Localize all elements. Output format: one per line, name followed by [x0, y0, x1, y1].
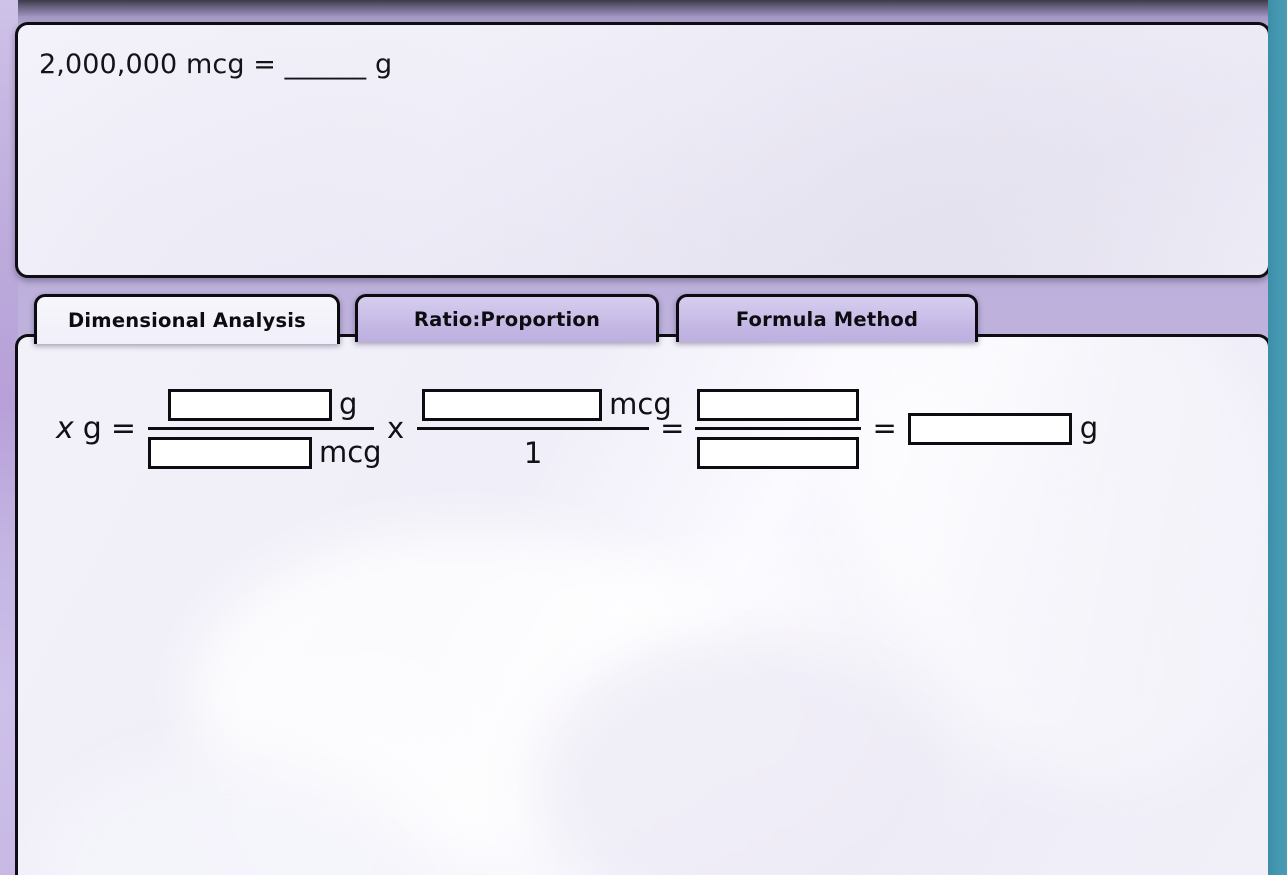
unknown-variable: x: [56, 411, 74, 446]
equals-sign-2: =: [872, 414, 896, 443]
fraction2-numerator-input[interactable]: [422, 389, 602, 421]
tab-label: Ratio:Proportion: [414, 308, 600, 331]
question-panel: 2,000,000 mcg = ______ g: [15, 22, 1271, 278]
lead-equals-sign: =: [111, 411, 136, 446]
fraction1-numerator-input[interactable]: [168, 389, 332, 421]
lead-unit-label: g: [83, 411, 102, 446]
fraction3-numerator-input[interactable]: [697, 389, 859, 421]
final-answer-input[interactable]: [908, 413, 1072, 445]
fraction2-numerator-row: mcg: [417, 383, 649, 426]
tab-label: Dimensional Analysis: [68, 309, 306, 332]
fraction1-denominator-unit: mcg: [319, 438, 382, 467]
tab-ratio-proportion[interactable]: Ratio:Proportion: [355, 294, 659, 342]
tab-dimensional-analysis[interactable]: Dimensional Analysis: [34, 294, 340, 344]
dimensional-analysis-equation: x g = g mcg x mc: [56, 383, 1098, 474]
tab-formula-method[interactable]: Formula Method: [676, 294, 978, 342]
fraction-product: [695, 383, 861, 474]
multiplication-sign: x: [387, 414, 404, 443]
fraction1-denominator-input[interactable]: [148, 437, 312, 469]
fraction1-numerator-unit: g: [339, 390, 357, 419]
fraction1-numerator-row: g: [148, 383, 374, 426]
fraction3-numerator-row: [695, 383, 861, 426]
fraction-given-quantity: mcg 1: [417, 383, 649, 474]
background-blur-shape: [538, 637, 958, 875]
right-teal-rail: [1268, 0, 1287, 875]
question-text: 2,000,000 mcg = ______ g: [39, 49, 392, 80]
background-blur-shape: [188, 527, 748, 857]
top-band-decoration: [0, 0, 1287, 16]
final-answer-group: g: [908, 413, 1098, 445]
fraction1-denominator-row: mcg: [148, 431, 374, 474]
fraction2-denominator-label: 1: [417, 431, 649, 474]
equation-lead: x g =: [56, 411, 136, 446]
fraction3-bar: [695, 427, 861, 430]
work-area-panel: x g = g mcg x mc: [15, 334, 1271, 875]
method-tab-bar: Dimensional Analysis Ratio:Proportion Fo…: [0, 294, 1287, 344]
tab-label: Formula Method: [736, 308, 918, 331]
equals-sign-1: =: [660, 414, 684, 443]
fraction3-denominator-row: [695, 431, 861, 474]
fraction3-denominator-input[interactable]: [697, 437, 859, 469]
fraction-conversion-factor: g mcg: [148, 383, 374, 474]
fraction2-bar: [417, 427, 649, 430]
background-blur-shape: [38, 757, 418, 875]
slide-stage: 2,000,000 mcg = ______ g Dimensional Ana…: [0, 0, 1287, 875]
fraction1-bar: [148, 427, 374, 430]
final-answer-unit: g: [1080, 414, 1098, 443]
